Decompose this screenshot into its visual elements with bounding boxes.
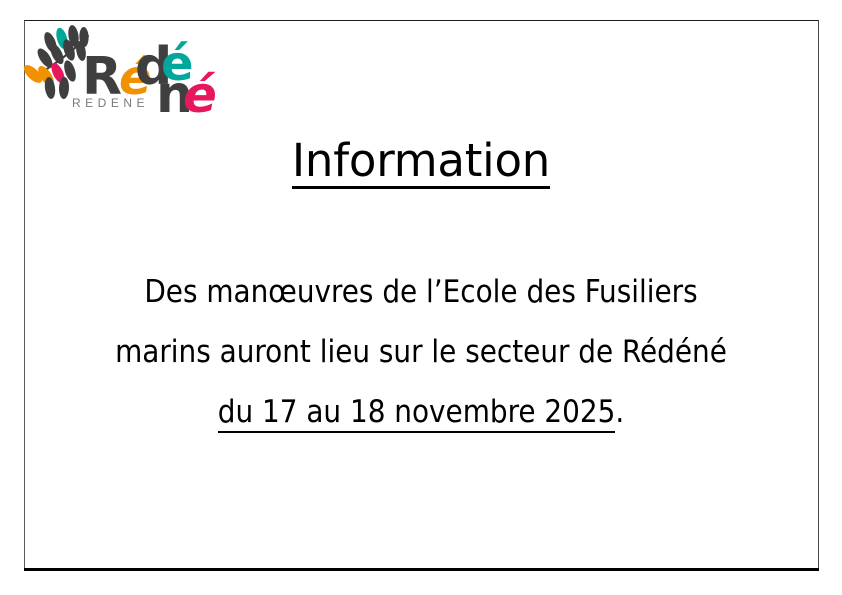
logo-letter-e3: é xyxy=(183,66,215,114)
notice-date-range: du 17 au 18 novembre 2025 xyxy=(218,394,616,433)
notice-date-period: . xyxy=(615,394,624,430)
notice-body-line-3: du 17 au 18 novembre 2025. xyxy=(26,382,816,442)
page-title: Information xyxy=(292,137,550,189)
logo-subtext: REDENE xyxy=(72,96,149,110)
wheat-ear-icon xyxy=(21,24,89,99)
notice-body-line-1: Des manœuvres de l’Ecole des Fusiliers xyxy=(26,262,816,322)
notice-body: Des manœuvres de l’Ecole des Fusiliers m… xyxy=(26,262,816,442)
page-title-container: Information xyxy=(0,137,842,189)
page-border-bottom-rule xyxy=(24,568,819,571)
notice-page: R é d é n é REDENE Information Des manœu… xyxy=(0,0,842,595)
redene-town-logo: R é d é n é REDENE xyxy=(20,22,215,114)
notice-body-line-2: marins auront lieu sur le secteur de Réd… xyxy=(26,322,816,382)
